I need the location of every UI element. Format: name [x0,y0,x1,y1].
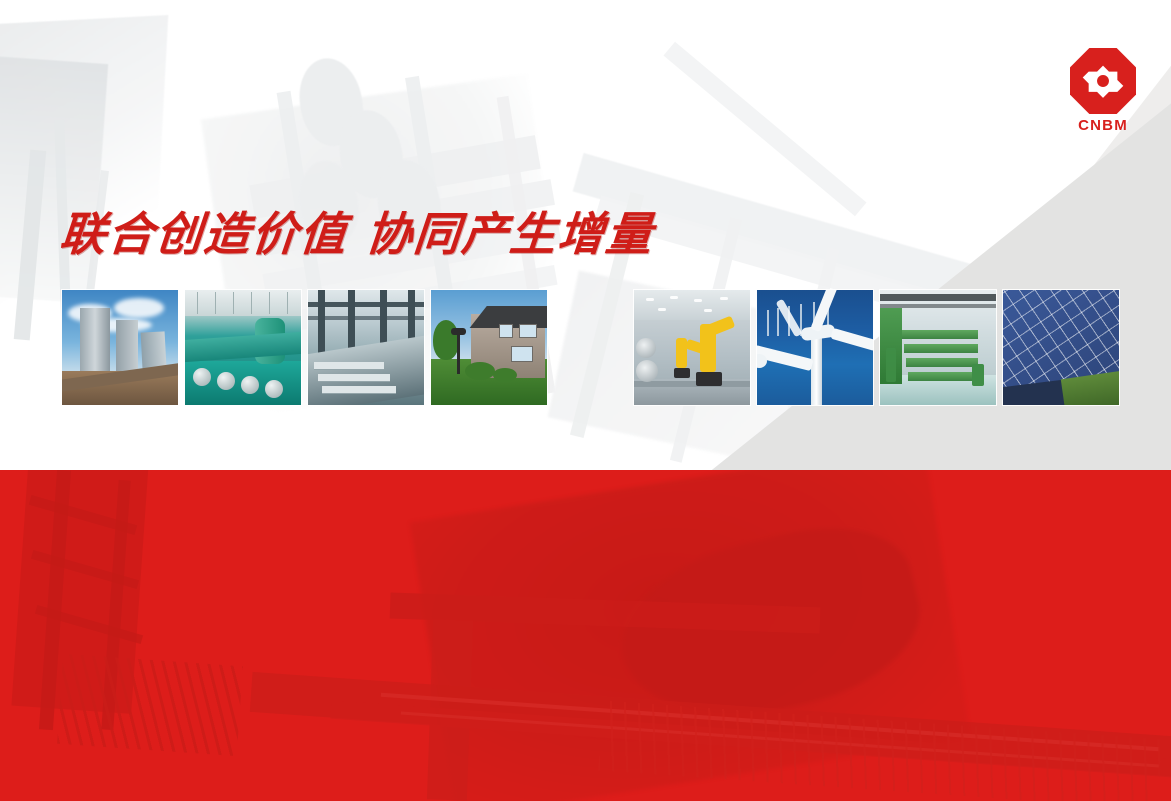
thumb-glass-line[interactable] [185,290,301,405]
cnbm-wordmark: CNBM [1060,117,1146,134]
thumb-residential-house[interactable] [431,290,547,405]
headline-slogan: 联合创造价值 协同产生增量 [57,198,657,264]
cnbm-octagram-logo-icon [1060,48,1146,114]
thumb-solar-panels[interactable] [1003,290,1119,405]
thumb-wind-turbines[interactable] [757,290,873,405]
slide-canvas: CNBM 联合创造价值 协同产生增量 [0,0,1171,801]
thumb-cement-plant[interactable] [62,290,178,405]
gallery-left-group [62,290,547,405]
thumb-robot-factory[interactable] [634,290,750,405]
red-band: 打造世界一流建材制造商， 为股东创造优异回报 中国建材股份有限公司 www.cn… [0,470,1171,801]
thumb-board-line[interactable] [308,290,424,405]
gallery-right-group [634,290,1119,405]
thumb-fiberglass-hall[interactable] [880,290,996,405]
cnbm-logo: CNBM [1060,48,1146,138]
red-band-plant-photo [0,470,1171,801]
